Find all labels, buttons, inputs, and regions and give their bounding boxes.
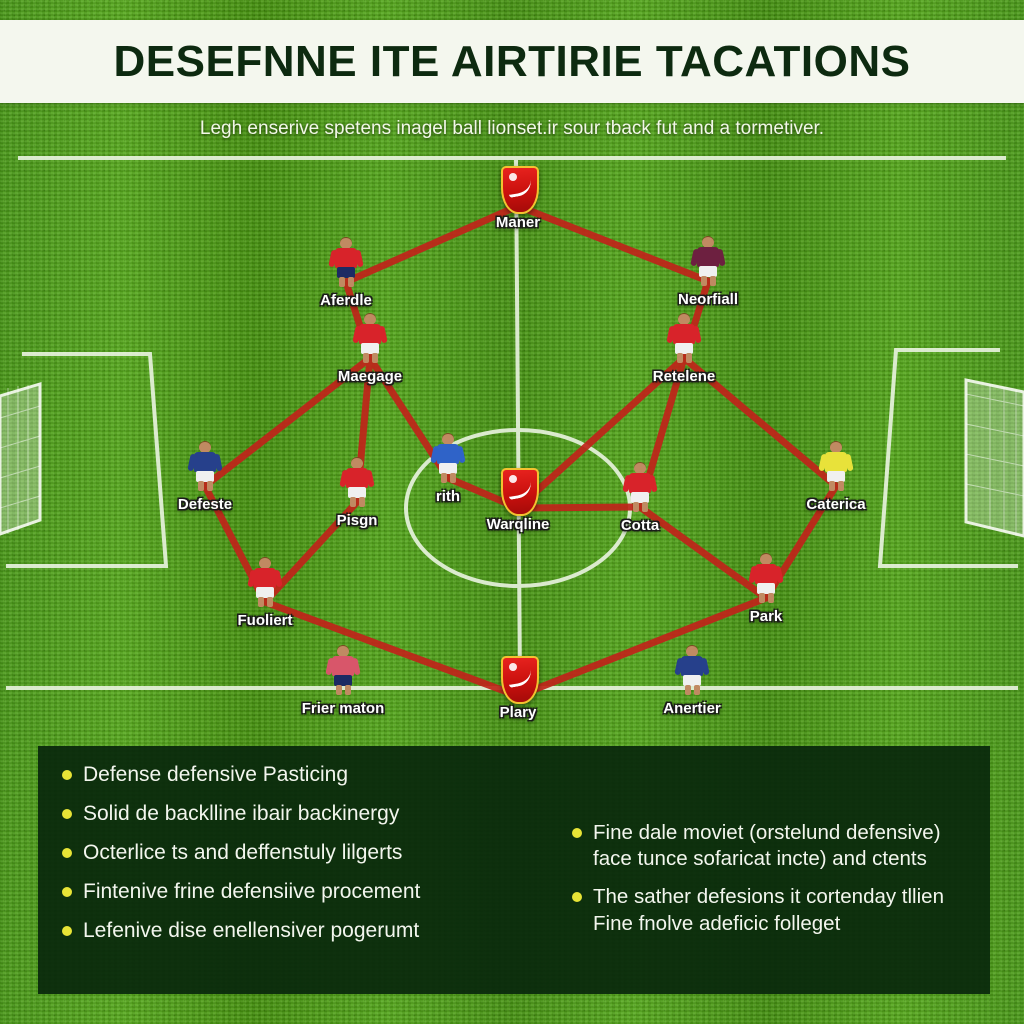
legend-column-left: Defense defensive PasticingSolid de back… <box>38 762 548 994</box>
bullet-icon <box>62 809 72 819</box>
player-figure-icon <box>691 237 725 285</box>
legend-item: Solid de backlline ibair backinergy <box>62 801 530 828</box>
bullet-icon <box>62 887 72 897</box>
player-figure-icon <box>667 314 701 362</box>
bullet-icon <box>572 828 582 838</box>
legend-item: Fintenive frine defensiive procement <box>62 879 530 906</box>
badge-label: Warqline <box>487 516 550 533</box>
badge-label: Maner <box>496 214 540 231</box>
player-figure-icon <box>675 646 709 694</box>
shield-icon <box>501 468 539 516</box>
tactic-link-park-plary <box>518 598 766 696</box>
bullet-icon <box>62 848 72 858</box>
player-label: Retelene <box>653 368 716 385</box>
player-figure-icon <box>623 463 657 511</box>
tactic-link-fuoliert-plary <box>265 602 518 696</box>
header-band: DESEFNNE ITE AIRTIRIE TACATIONS <box>0 20 1024 103</box>
bullet-icon <box>572 892 582 902</box>
legend-item: Defense defensive Pasticing <box>62 762 530 789</box>
legend-item-text: Defense defensive Pasticing <box>83 762 348 789</box>
shield-icon <box>501 656 539 704</box>
legend-item: Octerlice ts and deffenstuly lilgerts <box>62 840 530 867</box>
bullet-icon <box>62 770 72 780</box>
player-figure-icon <box>431 434 465 482</box>
player-label: Caterica <box>806 496 865 513</box>
badge-label: Plary <box>500 704 537 721</box>
player-label: Aferdle <box>320 292 372 309</box>
player-figure-icon <box>819 442 853 490</box>
player-figure-icon <box>340 458 374 506</box>
legend-item: Fine dale moviet (orstelund defensive) f… <box>572 820 972 872</box>
player-label: rith <box>436 488 460 505</box>
legend-item-text: Octerlice ts and deffenstuly lilgerts <box>83 840 402 867</box>
tactic-link-warqline-cotta <box>518 507 640 508</box>
legend-item-text: The sather defesions it cortenday tllien… <box>593 884 972 936</box>
tactic-link-maner-aferdle <box>346 206 518 282</box>
legend-item-text: Solid de backlline ibair backinergy <box>83 801 399 828</box>
player-figure-icon <box>749 554 783 602</box>
legend-item-text: Lefenive dise enellensiver pogerumt <box>83 918 419 945</box>
player-figure-icon <box>353 314 387 362</box>
shield-icon <box>501 166 539 214</box>
player-figure-icon <box>326 646 360 694</box>
legend-column-right: Fine dale moviet (orstelund defensive) f… <box>548 762 990 994</box>
player-label: Cotta <box>621 517 659 534</box>
legend-item: The sather defesions it cortenday tllien… <box>572 884 972 936</box>
legend-item: Lefenive dise enellensiver pogerumt <box>62 918 530 945</box>
player-label: Defeste <box>178 496 232 513</box>
bullet-icon <box>62 926 72 936</box>
page-title: DESEFNNE ITE AIRTIRIE TACATIONS <box>114 37 911 87</box>
player-label: Fuoliert <box>238 612 293 629</box>
player-figure-icon <box>188 442 222 490</box>
player-figure-icon <box>329 238 363 286</box>
player-label: Frier maton <box>302 700 385 717</box>
player-label: Maegage <box>338 368 402 385</box>
legend-item-text: Fine dale moviet (orstelund defensive) f… <box>593 820 972 872</box>
player-label: Neorfiall <box>678 291 738 308</box>
player-figure-icon <box>248 558 282 606</box>
legend-panel: Defense defensive PasticingSolid de back… <box>38 746 990 994</box>
player-label: Pisgn <box>337 512 378 529</box>
player-label: Anertier <box>663 700 721 717</box>
legend-item-text: Fintenive frine defensiive procement <box>83 879 420 906</box>
tactic-link-maner-neorfiall <box>518 206 708 281</box>
page-subtitle: Legh enserive spetens inagel ball lionse… <box>0 118 1024 140</box>
player-label: Park <box>750 608 783 625</box>
